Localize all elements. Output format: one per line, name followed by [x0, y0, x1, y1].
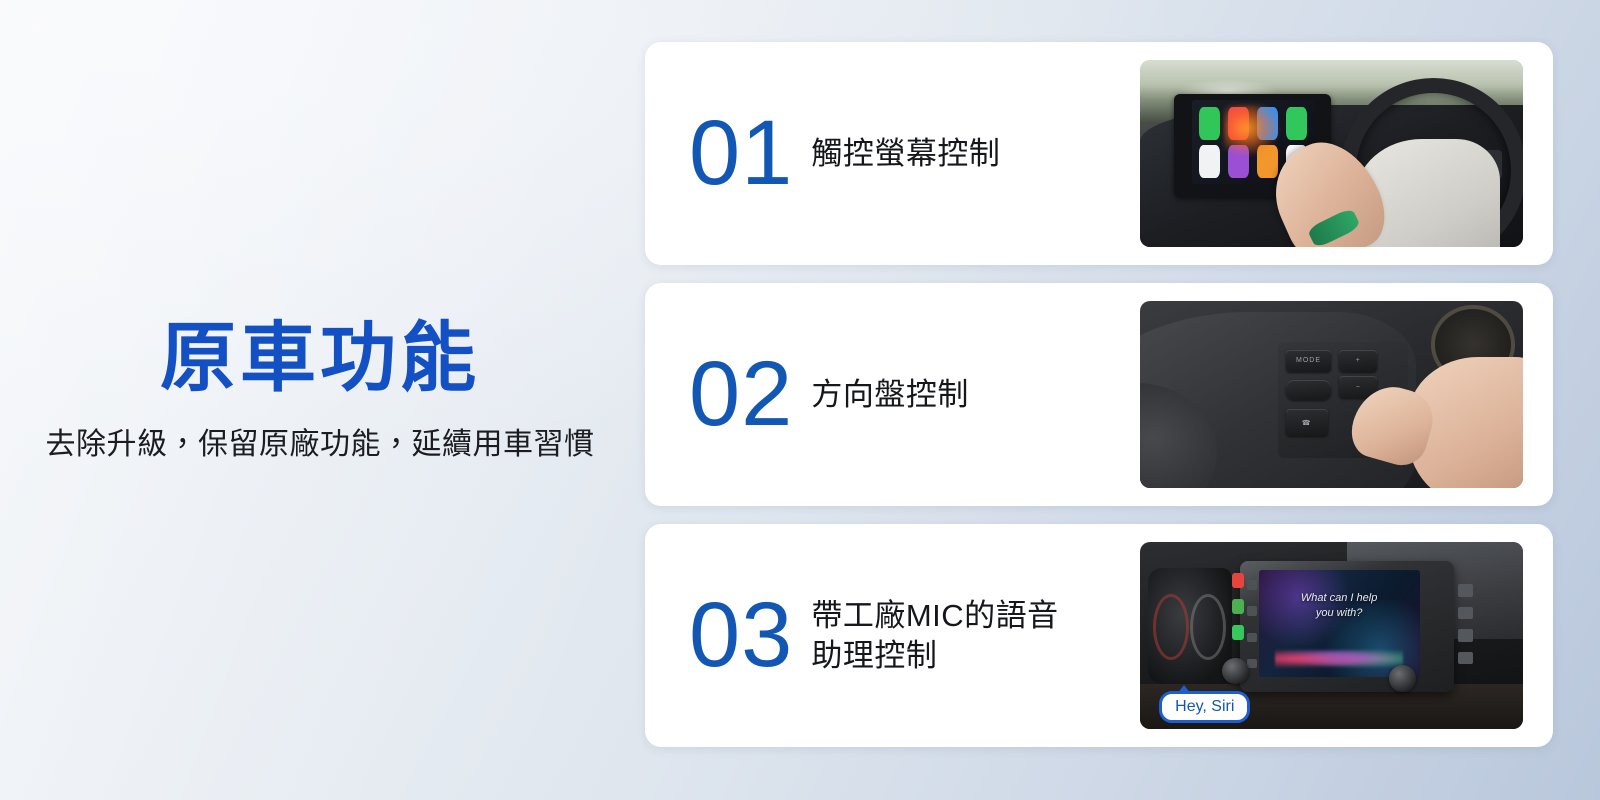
- siri-prompt-text: What can I help you with?: [1272, 591, 1407, 621]
- card-label: 方向盤控制: [811, 375, 969, 415]
- card-number-badge: 01: [689, 111, 793, 196]
- card-label-line-1: 帶工廠MIC的語音: [811, 598, 1058, 633]
- siri-waveform-icon: [1275, 645, 1404, 668]
- siri-prompt-line-2: you with?: [1316, 607, 1362, 619]
- messages-app-icon: [1286, 107, 1307, 140]
- seat-button-icon: [1458, 629, 1472, 642]
- feature-card-02[interactable]: 02 方向盤控制 MODE + − ☎: [645, 283, 1553, 506]
- phone-app-icon: [1199, 107, 1220, 140]
- card-label-line-2: 助理控制: [811, 638, 937, 673]
- clock-button-icon: [1247, 606, 1256, 615]
- maps-shortcut-icon: [1232, 599, 1244, 614]
- home-button-icon: [1247, 580, 1256, 589]
- feature-card-list: 01 觸控螢幕控制: [645, 42, 1553, 747]
- card-number-badge: 02: [689, 352, 793, 437]
- card-label: 觸控螢幕控制: [811, 134, 1000, 174]
- hero-block: 原車功能 去除升級，保留原廠功能，延續用車習慣: [0, 318, 640, 464]
- screen-glare: [1224, 105, 1280, 155]
- phone-shortcut-icon: [1232, 625, 1244, 640]
- siri-screen: What can I help you with?: [1259, 570, 1420, 677]
- dashboard-vent-buttons: [1454, 579, 1477, 669]
- phone-call-button-icon: ☎: [1286, 409, 1328, 435]
- instrument-cluster-shape: [1148, 568, 1232, 684]
- page-subtitle: 去除升級，保留原廠功能，延續用車習慣: [0, 426, 640, 464]
- tune-knob-right-icon: [1389, 665, 1416, 691]
- card-label: 帶工廠MIC的語音 助理控制: [811, 596, 1058, 675]
- page-title: 原車功能: [0, 318, 640, 400]
- feature-card-03[interactable]: 03 帶工廠MIC的語音 助理控制 What can I help you wi…: [645, 524, 1553, 747]
- hey-siri-bubble: Hey, Siri: [1159, 691, 1250, 723]
- feature-card-01[interactable]: 01 觸控螢幕控制: [645, 42, 1553, 265]
- siri-dashboard-photo: What can I help you with?: [1140, 542, 1523, 729]
- mode-button-icon: MODE: [1286, 350, 1332, 372]
- seek-rocker-button-icon: [1286, 380, 1332, 401]
- podcasts-app-icon: [1199, 145, 1220, 178]
- menu-button-icon: [1458, 607, 1472, 620]
- card-number-badge: 03: [689, 593, 793, 678]
- card-text-block: 01 觸控螢幕控制: [645, 111, 1059, 196]
- screen-app-shortcuts: [1230, 573, 1245, 667]
- siri-prompt-line-1: What can I help: [1301, 592, 1377, 604]
- music-shortcut-icon: [1232, 573, 1244, 588]
- screen-side-buttons: [1245, 572, 1258, 677]
- climate-button-icon: [1458, 652, 1472, 665]
- steering-wheel-controls-photo: MODE + − ☎: [1140, 301, 1523, 488]
- park-button-icon: [1458, 584, 1472, 597]
- search-button-icon: [1247, 659, 1256, 668]
- volume-up-button-icon: +: [1339, 350, 1377, 372]
- card-text-block: 02 方向盤控制: [645, 352, 1059, 437]
- card-text-block: 03 帶工廠MIC的語音 助理控制: [645, 593, 1059, 678]
- phone-button-icon: [1247, 633, 1256, 642]
- carplay-touchscreen-photo: [1140, 60, 1523, 247]
- promo-banner: 原車功能 去除升級，保留原廠功能，延續用車習慣 01 觸控螢幕控制: [0, 0, 1600, 800]
